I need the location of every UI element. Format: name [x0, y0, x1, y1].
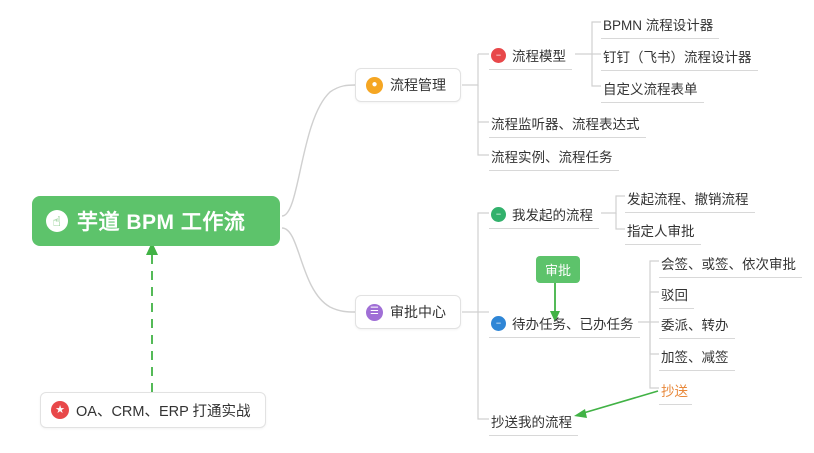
- node-bpmn-designer[interactable]: BPMN 流程设计器: [601, 11, 719, 39]
- mindmap-canvas: ☝ 芋道 BPM 工作流 ● 流程管理 − 流程模型 BPMN 流程设计器 钉钉…: [0, 0, 814, 453]
- node-process-model-label: 流程模型: [512, 45, 566, 65]
- connector-todo-child-4: [650, 322, 659, 354]
- node-start-cancel-process-label: 发起流程、撤销流程: [627, 188, 749, 208]
- star-circle-icon: ★: [51, 401, 69, 419]
- minus-circle-icon: −: [491, 316, 506, 331]
- connector-ac-trunk-1: [462, 213, 489, 312]
- connector-ac-trunk-3: [478, 312, 489, 419]
- branch-approval-center[interactable]: ☰ 审批中心: [355, 295, 461, 329]
- minus-circle-icon: −: [491, 48, 506, 63]
- connector-todo-child-5: [650, 322, 659, 388]
- connector-root-to-approval-center: [282, 228, 355, 312]
- node-add-remove-sign-label: 加签、减签: [661, 346, 729, 366]
- node-bpmn-designer-label: BPMN 流程设计器: [603, 14, 713, 34]
- node-cc-label: 抄送: [661, 384, 688, 399]
- node-reject[interactable]: 驳回: [659, 281, 694, 309]
- node-listener-expression-label: 流程监听器、流程表达式: [491, 113, 640, 133]
- connector-pm-trunk-3: [478, 122, 489, 155]
- node-delegate-transfer[interactable]: 委派、转办: [659, 311, 735, 339]
- node-cc-my-process-label: 抄送我的流程: [491, 411, 572, 431]
- pin-icon: ●: [366, 77, 383, 94]
- connector-pm-trunk-2: [478, 85, 489, 122]
- branch-process-management[interactable]: ● 流程管理: [355, 68, 461, 102]
- thumbs-up-icon: ☝: [46, 210, 68, 232]
- connector-my-started-child-2: [616, 213, 625, 229]
- node-todo-done-task[interactable]: − 待办任务、已办任务: [489, 310, 640, 338]
- node-delegate-transfer-label: 委派、转办: [661, 314, 729, 334]
- connector-my-started-child-1: [601, 196, 625, 213]
- connector-model-child-1: [575, 22, 601, 54]
- node-process-model[interactable]: − 流程模型: [489, 42, 572, 70]
- connector-todo-child-2: [650, 292, 659, 322]
- node-my-started-process-label: 我发起的流程: [512, 204, 593, 224]
- branch-process-management-label: 流程管理: [390, 75, 446, 95]
- connector-root-to-process-mgmt: [282, 85, 355, 216]
- node-multi-approval[interactable]: 会签、或签、依次审批: [659, 250, 802, 278]
- node-assign-approver-label: 指定人审批: [627, 220, 695, 240]
- annotation-integration-card[interactable]: ★ OA、CRM、ERP 打通实战: [40, 392, 266, 428]
- node-custom-form[interactable]: 自定义流程表单: [601, 75, 704, 103]
- node-multi-approval-label: 会签、或签、依次审批: [661, 253, 796, 273]
- minus-circle-icon: −: [491, 207, 506, 222]
- node-todo-done-task-label: 待办任务、已办任务: [512, 313, 634, 333]
- annotation-integration-card-label: OA、CRM、ERP 打通实战: [76, 400, 251, 421]
- node-my-started-process[interactable]: − 我发起的流程: [489, 201, 599, 229]
- arrow-cc-to-cc-my-process: [580, 391, 658, 414]
- node-reject-label: 驳回: [661, 284, 688, 304]
- node-cc[interactable]: 抄送: [659, 377, 692, 405]
- node-custom-form-label: 自定义流程表单: [603, 78, 698, 98]
- node-cc-my-process[interactable]: 抄送我的流程: [489, 408, 578, 436]
- annotation-approve-tag-label: 审批: [545, 260, 571, 279]
- root-node[interactable]: ☝ 芋道 BPM 工作流: [32, 196, 280, 246]
- connector-model-child-3: [592, 54, 601, 86]
- root-node-label: 芋道 BPM 工作流: [77, 206, 245, 236]
- list-circle-icon: ☰: [366, 304, 383, 321]
- node-instance-task[interactable]: 流程实例、流程任务: [489, 143, 619, 171]
- node-dingtalk-designer[interactable]: 钉钉（飞书）流程设计器: [601, 43, 758, 71]
- node-dingtalk-designer-label: 钉钉（飞书）流程设计器: [603, 46, 752, 66]
- annotation-approve-tag[interactable]: 审批: [536, 256, 580, 283]
- branch-approval-center-label: 审批中心: [390, 302, 446, 322]
- node-add-remove-sign[interactable]: 加签、减签: [659, 343, 735, 371]
- node-start-cancel-process[interactable]: 发起流程、撤销流程: [625, 185, 755, 213]
- node-assign-approver[interactable]: 指定人审批: [625, 217, 701, 245]
- node-instance-task-label: 流程实例、流程任务: [491, 146, 613, 166]
- node-listener-expression[interactable]: 流程监听器、流程表达式: [489, 110, 646, 138]
- connector-pm-trunk-1: [462, 54, 478, 85]
